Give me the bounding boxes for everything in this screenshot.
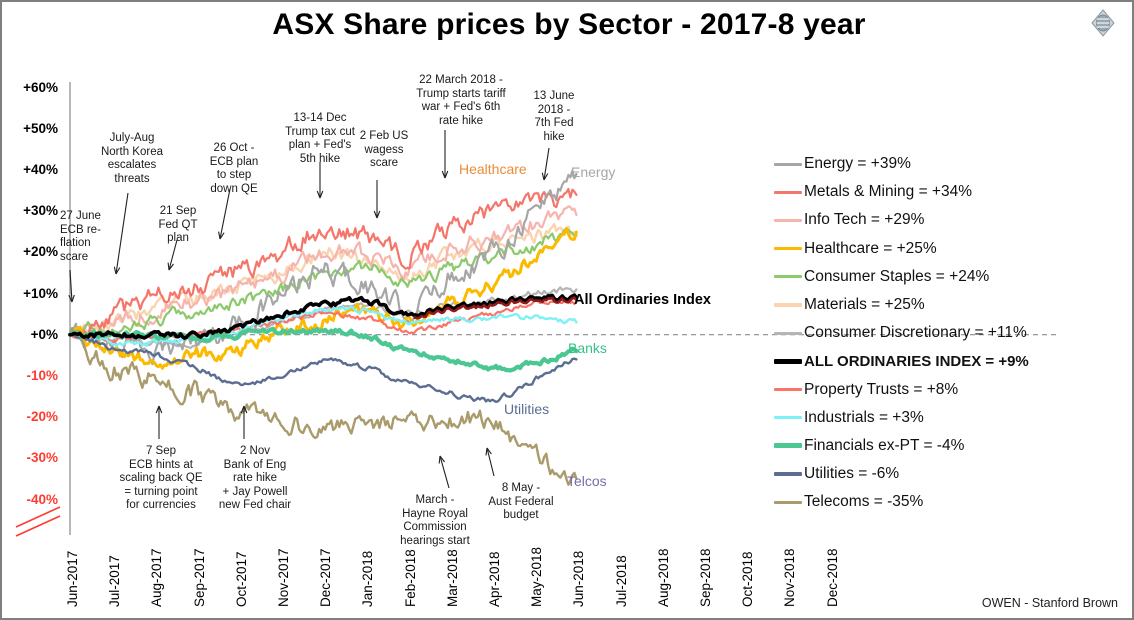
footer-credit: OWEN - Stanford Brown [982,596,1118,610]
legend-financials-ex-pt[interactable]: Financials ex-PT = -4% [774,432,1130,460]
y-axis-tick: +50% [6,122,58,136]
y-axis-tick: -40% [6,493,58,507]
legend-label: Industrials = +3% [804,409,924,427]
anno-north-korea: July-Aug North Korea escalates threats [86,132,178,186]
legend-telecoms[interactable]: Telecoms = -35% [774,488,1130,516]
x-axis-tick: Aug-2017 [149,548,164,607]
legend-label: Info Tech = +29% [804,211,924,229]
series-label-telcos: Telcos [567,473,607,489]
legend-healthcare[interactable]: Healthcare = +25% [774,235,1130,263]
chart-page: ASX Share prices by Sector - 2017-8 year… [0,0,1134,620]
legend-label: Financials ex-PT = -4% [804,437,964,455]
legend-swatch-icon [774,416,802,419]
series-label-energy: Energy [571,164,615,180]
legend-label: Materials = +25% [804,296,925,314]
y-axis-tick: +60% [6,81,58,95]
x-axis-tick: Feb-2018 [403,549,418,607]
legend-label: Healthcare = +25% [804,240,937,258]
legend-label: Energy = +39% [804,155,911,173]
x-axis-tick: Nov-2018 [782,548,797,607]
anno-fed-qt: 21 Sep Fed QT plan [148,205,208,246]
legend-consumer-staples[interactable]: Consumer Staples = +24% [774,263,1130,291]
x-axis-tick: Oct-2018 [740,551,755,607]
anno-ecb-reflation: 27 June ECB re- flation scare [60,210,122,264]
legend-label: Utilities = -6% [804,465,899,483]
page-title: ASX Share prices by Sector - 2017-8 year [2,8,1134,42]
y-axis-tick: -20% [6,410,58,424]
anno-boe-rate-hike: 2 Nov Bank of Eng rate hike + Jay Powell… [210,445,300,513]
series-label-banks: Banks [568,340,607,356]
anno-7th-fed-hike: 13 June 2018 - 7th Fed hike [524,90,584,144]
x-axis-tick: Apr-2018 [487,551,502,607]
series-label-healthcare: Healthcare [459,161,527,177]
legend-info-tech[interactable]: Info Tech = +29% [774,206,1130,234]
legend-industrials[interactable]: Industrials = +3% [774,404,1130,432]
x-axis-tick: Oct-2017 [234,551,249,607]
legend-swatch-icon [774,501,802,504]
anno-tariff-war: 22 March 2018 - Trump starts tariff war … [402,74,520,128]
legend-swatch-icon [774,472,802,475]
anno-federal-budget: 8 May - Aust Federal budget [480,482,562,523]
legend-utilities[interactable]: Utilities = -6% [774,460,1130,488]
legend-label: Property Trusts = +8% [804,381,958,399]
x-axis-tick: Dec-2018 [825,548,840,607]
legend-label: Consumer Discretionary = +11% [804,324,1027,342]
y-axis-tick: +30% [6,204,58,218]
legend-metals-mining[interactable]: Metals & Mining = +34% [774,178,1130,206]
x-axis-tick: May-2018 [529,547,544,607]
anno-ecb-step-down-qe: 26 Oct - ECB plan to step down QE [200,142,268,196]
x-axis-tick: Sep-2018 [698,548,713,607]
legend-swatch-icon [774,163,802,166]
series-label-utilities: Utilities [504,401,549,417]
x-axis-tick: Jun-2018 [571,551,586,607]
x-axis-tick: Dec-2017 [318,548,333,607]
legend-all-ordinaries-index[interactable]: ALL ORDINARIES INDEX = +9% [774,347,1130,375]
y-axis-tick: +0% [6,328,58,342]
y-axis-tick: +10% [6,287,58,301]
series-label-all-ordinaries: All Ordinaries Index [574,292,711,308]
anno-ecb-scaling-back: 7 Sep ECB hints at scaling back QE = tur… [107,445,215,513]
legend-materials[interactable]: Materials = +25% [774,291,1130,319]
legend-property-trusts[interactable]: Property Trusts = +8% [774,376,1130,404]
x-axis-tick: Jun-2017 [65,551,80,607]
y-axis-tick: +40% [6,163,58,177]
legend-swatch-icon [774,443,802,448]
legend-swatch-icon [774,247,802,251]
x-axis-tick: Sep-2017 [192,548,207,607]
diamond-logo-icon [1090,8,1116,38]
legend-swatch-icon [774,275,802,278]
x-axis-tick: Aug-2018 [656,548,671,607]
legend-consumer-discretionary[interactable]: Consumer Discretionary = +11% [774,319,1130,347]
y-axis-tick: -30% [6,451,58,465]
legend-label: ALL ORDINARIES INDEX = +9% [804,353,1029,370]
x-axis-tick: Jan-2018 [360,551,375,607]
legend-label: Telecoms = -35% [804,493,923,511]
y-axis-tick: +20% [6,245,58,259]
legend-swatch-icon [774,303,802,306]
legend-swatch-icon [774,332,802,335]
x-axis-tick: Nov-2017 [276,548,291,607]
x-axis-tick: Jul-2017 [107,555,122,607]
legend-swatch-icon [774,388,802,391]
x-axis-tick: Jul-2018 [614,555,629,607]
y-axis-tick: -10% [6,369,58,383]
legend-energy[interactable]: Energy = +39% [774,150,1130,178]
legend-label: Metals & Mining = +34% [804,183,972,201]
legend: Energy = +39%Metals & Mining = +34%Info … [774,150,1130,516]
anno-us-wages-scare: 2 Feb US wagess scare [352,130,416,171]
legend-swatch-icon [774,191,802,194]
x-axis-tick: Mar-2018 [445,549,460,607]
legend-swatch-icon [774,359,802,365]
anno-hayne-commission: March - Hayne Royal Commission hearings … [389,494,481,548]
legend-swatch-icon [774,219,802,222]
legend-label: Consumer Staples = +24% [804,268,989,286]
